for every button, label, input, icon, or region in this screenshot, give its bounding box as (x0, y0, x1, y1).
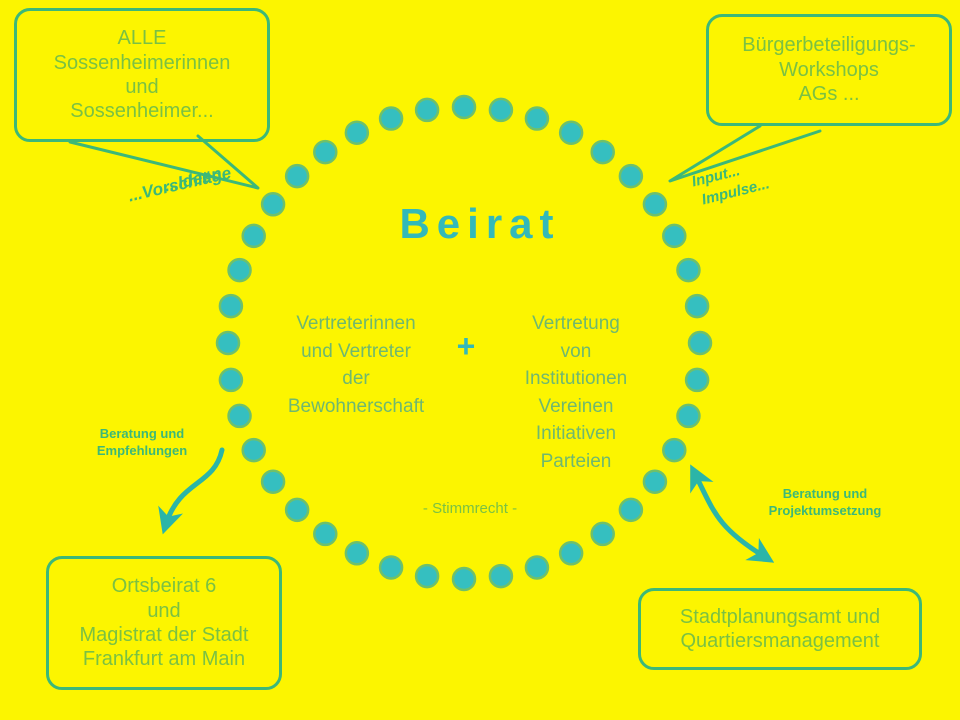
ring-dot (560, 542, 582, 564)
ring-dot (490, 565, 512, 587)
box-ortsbeirat-magistrat[interactable]: Ortsbeirat 6 und Magistrat der Stadt Fra… (46, 556, 282, 690)
ring-dot (416, 565, 438, 587)
ring-dot (243, 439, 265, 461)
ring-dot (592, 141, 614, 163)
column-line: Vereinen (488, 393, 664, 421)
callout-line: Sossenheimerinnen (54, 51, 231, 75)
ring-dot (314, 523, 336, 545)
ring-dot (592, 523, 614, 545)
column-line: Vertreterinnen (268, 310, 444, 338)
ring-dot (380, 556, 402, 578)
ring-dot (380, 108, 402, 130)
callout-line: Sossenheimer... (70, 99, 213, 123)
callout-line: Workshops (779, 58, 879, 82)
column-line: und Vertreter (268, 338, 444, 366)
ring-dot (526, 556, 548, 578)
box-stadtplanungsamt-quartiersmanagement[interactable]: Stadtplanungsamt und Quartiersmanagement (638, 588, 922, 670)
ring-dot (686, 295, 708, 317)
ring-dot (677, 405, 699, 427)
column-line: Vertretung (488, 310, 664, 338)
ring-dot (560, 122, 582, 144)
box-line: Ortsbeirat 6 (112, 574, 216, 598)
callout-buergerbeteiligungs-workshops[interactable]: Bürgerbeteiligungs- Workshops AGs ... (706, 14, 952, 126)
ring-dot (677, 259, 699, 281)
ring-dot (620, 165, 642, 187)
ring-dot (229, 259, 251, 281)
column-line: Parteien (488, 448, 664, 476)
callout-line: Bürgerbeteiligungs- (742, 33, 915, 57)
label-beratung-empfehlungen: Beratung und Empfehlungen (72, 426, 212, 460)
label-beratung-projektumsetzung: Beratung und Projektumsetzung (740, 486, 910, 520)
ring-dot (526, 108, 548, 130)
ring-dot (217, 332, 239, 354)
diagram-canvas: ALLE Sossenheimerinnen und Sossenheimer.… (0, 0, 960, 720)
callout-line: ALLE (118, 26, 167, 50)
column-institutionen: Vertretung von Institutionen Vereinen In… (488, 310, 664, 475)
ring-dot (416, 99, 438, 121)
ring-dot (490, 99, 512, 121)
ring-dot (286, 499, 308, 521)
ring-dot (314, 141, 336, 163)
ring-dot (346, 122, 368, 144)
column-line: von (488, 338, 664, 366)
arrow-beratung-empfehlungen (166, 450, 222, 524)
ring-dot (220, 295, 242, 317)
column-line: der (268, 365, 444, 393)
ring-dot (689, 332, 711, 354)
column-line: Bewohnerschaft (268, 393, 444, 421)
box-line: Stadtplanungsamt und (680, 605, 880, 629)
ring-dot (220, 369, 242, 391)
ring-dot (262, 471, 284, 493)
ring-dot (663, 439, 685, 461)
ring-dot (620, 499, 642, 521)
box-line: und (147, 599, 180, 623)
plus-icon: + (444, 330, 488, 362)
callout-line: AGs ... (798, 82, 859, 106)
ring-dot (286, 165, 308, 187)
box-line: Quartiersmanagement (681, 629, 880, 653)
box-line: Frankfurt am Main (83, 647, 245, 671)
stimmrecht-note: - Stimmrecht - (330, 500, 610, 517)
callout-line: und (125, 75, 158, 99)
column-line: Initiativen (488, 420, 664, 448)
ring-dot (686, 369, 708, 391)
ring-dot (453, 96, 475, 118)
ring-dot (346, 542, 368, 564)
box-line: Magistrat der Stadt (80, 623, 249, 647)
ring-dot (229, 405, 251, 427)
column-bewohnerschaft: Vertreterinnen und Vertreter der Bewohne… (268, 310, 444, 420)
column-line: Institutionen (488, 365, 664, 393)
ring-dot (453, 568, 475, 590)
diagram-title: Beirat (0, 200, 960, 248)
callout-alle-sossenheimer[interactable]: ALLE Sossenheimerinnen und Sossenheimer.… (14, 8, 270, 142)
